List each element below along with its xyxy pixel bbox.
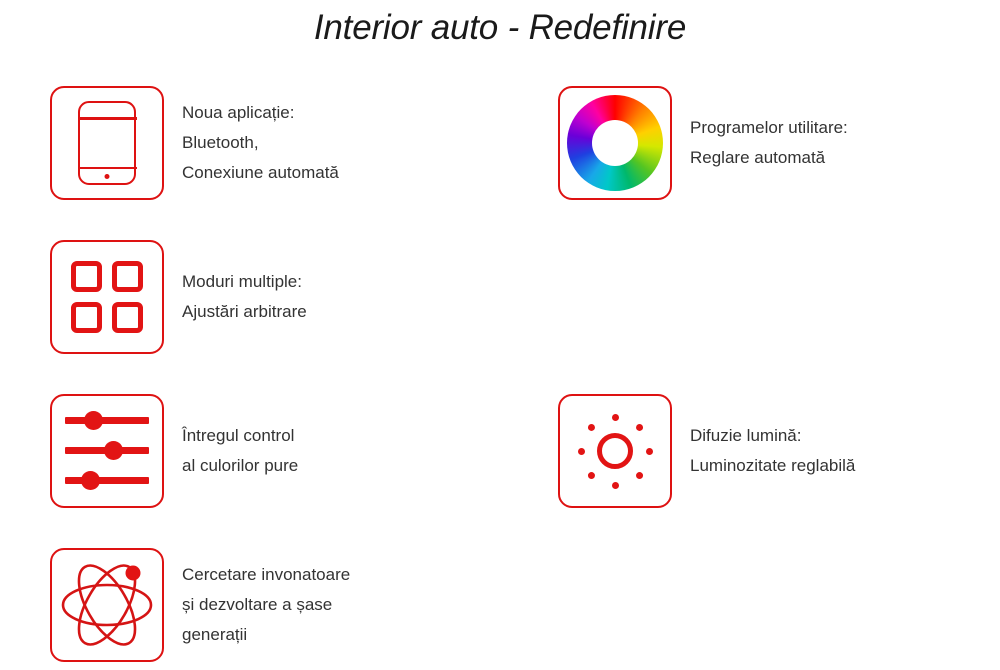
grid-cell <box>112 302 143 333</box>
feature-text-control: Întregul control al culorilor pure <box>182 421 298 481</box>
grid-cell <box>71 261 102 292</box>
feature-line: Moduri multiple: <box>182 267 307 297</box>
feature-text-brightness: Difuzie lumină: Luminozitate reglabilă <box>690 421 855 481</box>
feature-line: generații <box>182 620 350 650</box>
smartphone-home-dot <box>105 174 110 179</box>
icon-frame-grid <box>50 240 164 354</box>
feature-line: Bluetooth, <box>182 128 339 158</box>
feature-line: Cercetare invonatoare <box>182 560 350 590</box>
feature-text-research: Cercetare invonatoare și dezvoltare a șa… <box>182 560 350 650</box>
atom-icon <box>59 557 155 653</box>
sun-ray-dot <box>578 448 585 455</box>
slider-track <box>65 417 149 424</box>
grid-cell <box>112 261 143 292</box>
slider-knob <box>81 471 100 490</box>
feature-item-modes: Moduri multiple: Ajustări arbitrare <box>50 240 307 354</box>
slider-track <box>65 477 149 484</box>
icon-frame-color-wheel <box>558 86 672 200</box>
feature-line: Ajustări arbitrare <box>182 297 307 327</box>
slider-knob <box>104 441 123 460</box>
feature-line: Noua aplicație: <box>182 98 339 128</box>
sun-ray-dot <box>612 414 619 421</box>
sliders-icon <box>65 413 149 489</box>
feature-item-research: Cercetare invonatoare și dezvoltare a șa… <box>50 548 350 662</box>
feature-line: Programelor utilitare: <box>690 113 848 143</box>
icon-frame-sliders <box>50 394 164 508</box>
grid-icon <box>71 261 143 333</box>
sun-ray-dot <box>586 422 596 432</box>
feature-line: al culorilor pure <box>182 451 298 481</box>
sun-ray-dot <box>586 470 596 480</box>
slider-knob <box>84 411 103 430</box>
sun-ray-dot <box>646 448 653 455</box>
color-wheel-icon <box>567 95 663 191</box>
feature-line: Luminozitate reglabilă <box>690 451 855 481</box>
feature-line: și dezvoltare a șase <box>182 590 350 620</box>
feature-line: Conexiune automată <box>182 158 339 188</box>
atom-electron-dot <box>126 566 141 581</box>
icon-frame-smartphone <box>50 86 164 200</box>
feature-list: Noua aplicație: Bluetooth, Conexiune aut… <box>0 0 1000 670</box>
feature-item-control: Întregul control al culorilor pure <box>50 394 298 508</box>
smartphone-chin-line <box>78 167 137 170</box>
feature-text-app: Noua aplicație: Bluetooth, Conexiune aut… <box>182 98 339 188</box>
sun-brightness-icon <box>573 409 657 493</box>
smartphone-earpiece-line <box>78 117 137 120</box>
sun-ring <box>597 433 633 469</box>
feature-item-programs: Programelor utilitare: Reglare automată <box>558 86 848 200</box>
icon-frame-sun <box>558 394 672 508</box>
feature-line: Întregul control <box>182 421 298 451</box>
icon-frame-atom <box>50 548 164 662</box>
feature-text-modes: Moduri multiple: Ajustări arbitrare <box>182 267 307 327</box>
smartphone-icon <box>78 101 136 185</box>
feature-line: Difuzie lumină: <box>690 421 855 451</box>
sun-ray-dot <box>634 470 644 480</box>
sun-ray-dot <box>634 422 644 432</box>
sun-ray-dot <box>612 482 619 489</box>
feature-text-programs: Programelor utilitare: Reglare automată <box>690 113 848 173</box>
feature-item-app: Noua aplicație: Bluetooth, Conexiune aut… <box>50 86 339 200</box>
grid-cell <box>71 302 102 333</box>
feature-line: Reglare automată <box>690 143 848 173</box>
feature-item-brightness: Difuzie lumină: Luminozitate reglabilă <box>558 394 855 508</box>
